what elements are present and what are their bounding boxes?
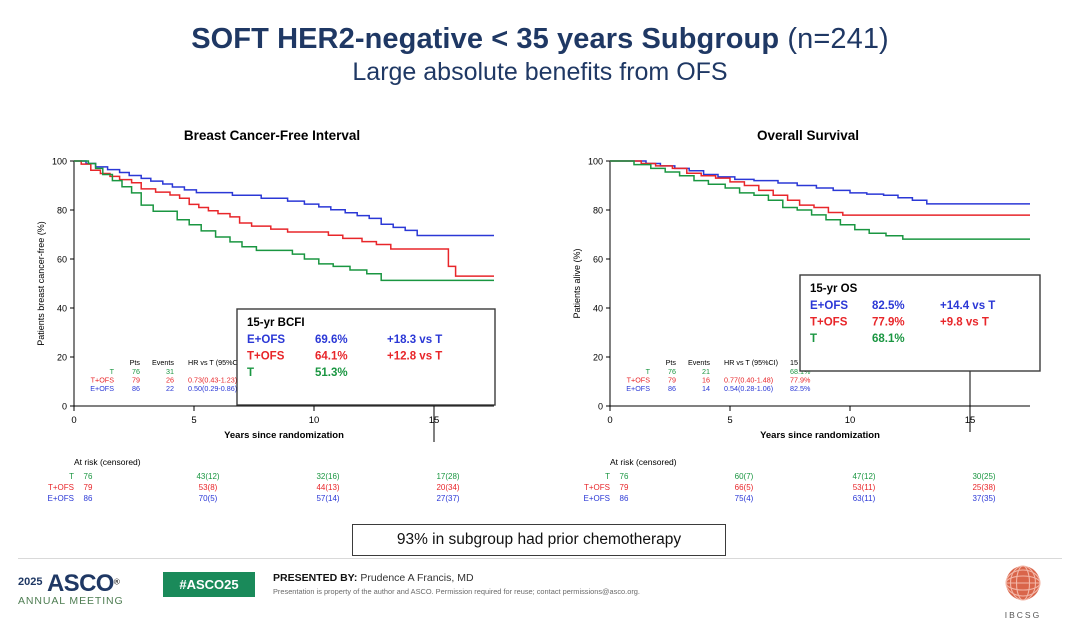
chart-title-bcfi: Breast Cancer-Free Interval [22,128,522,143]
y-axis-title: Patients breast cancer-free (%) [36,221,46,346]
y-tick-label: 0 [62,402,67,412]
summary-callout-bcfi: 15-yr BCFIE+OFS69.6%+18.3 vs TT+OFS64.1%… [237,309,495,405]
km-curve-t [74,161,494,280]
km-plot-os: 020406080100051015Years since randomizat… [558,147,1058,507]
plot-area-os: 020406080100051015Years since randomizat… [558,147,1058,507]
title-main: SOFT HER2-negative < 35 years Subgroup [191,23,779,55]
callout-delta: +18.3 vs T [387,334,442,346]
km-curve-t [610,161,1030,239]
at-risk-header: At risk (censored) [610,457,677,467]
y-axis-title: Patients alive (%) [572,248,582,318]
stats-cell: E+OFS [626,384,650,393]
at-risk-cell: 17(28) [436,472,459,481]
x-tick-label: 10 [309,415,320,426]
callout-value: 77.9% [872,317,905,329]
chart-panel-os: Overall Survival 020406080100051015Years… [558,128,1058,518]
stats-cell: 0.54(0.28-1.06) [724,384,773,393]
at-risk-row-label: T [69,472,74,481]
at-risk-cell: 86 [84,494,93,503]
y-tick-label: 100 [588,157,603,167]
callout-delta: +14.4 vs T [940,300,995,312]
at-risk-row-label: T+OFS [584,483,610,492]
copyright-disclaimer: Presentation is property of the author a… [273,587,640,596]
at-risk-cell: 47(12) [852,472,875,481]
callout-arm: T [247,367,254,379]
callout-arm: E+OFS [247,334,285,346]
page-title: SOFT HER2-negative < 35 years Subgroup (… [0,22,1080,87]
km-curve-e-ofs [74,161,494,235]
at-risk-cell: 86 [620,494,629,503]
at-risk-header: At risk (censored) [74,457,141,467]
at-risk-cell: 53(11) [853,483,876,492]
callout-value: 68.1% [872,333,905,345]
asco-subtitle: ANNUAL MEETING [18,595,150,607]
stats-header-cell: Pts [130,358,141,367]
y-tick-label: 20 [57,353,67,363]
asco-year: 2025 [18,576,42,588]
y-tick-label: 40 [57,304,67,314]
callout-heading: 15-yr OS [810,283,858,295]
title-paren: (n=241) [779,23,889,55]
callout-arm: T [810,333,817,345]
callout-value: 82.5% [872,300,905,312]
hashtag-text: #ASCO25 [179,577,238,592]
callout-delta: +12.8 vs T [387,351,442,363]
x-axis-title: Years since randomization [224,430,344,441]
asco-logo: 2025 ASCO® ANNUAL MEETING [18,570,150,607]
globe-icon [1002,562,1044,604]
y-tick-label: 0 [598,402,603,412]
at-risk-cell: 76 [620,472,629,481]
stats-cell: 86 [132,384,140,393]
ibcsg-label: IBCSG [990,610,1056,620]
stats-header-cell: HR vs T (95%CI) [188,358,242,367]
callout-arm: E+OFS [810,300,848,312]
callout-arm: T+OFS [810,317,848,329]
chemotherapy-callout-text: 93% in subgroup had prior chemotherapy [397,531,681,549]
stats-cell: 82.5% [790,384,811,393]
x-tick-label: 0 [607,415,612,426]
asco-trademark: ® [114,578,120,587]
slide-footer: 2025 ASCO® ANNUAL MEETING #ASCO25 PRESEN… [18,566,1062,608]
at-risk-cell: 25(38) [972,483,995,492]
stats-cell: E+OFS [90,384,114,393]
x-tick-label: 5 [191,415,196,426]
stats-cell: 86 [668,384,676,393]
asco-wordmark: ASCO [47,570,114,598]
at-risk-cell: 32(16) [316,472,339,481]
at-risk-row-label: T+OFS [48,483,74,492]
at-risk-row-label: E+OFS [48,494,74,503]
stats-header-cell: HR vs T (95%CI) [724,358,778,367]
x-tick-label: 10 [845,415,856,426]
x-tick-label: 5 [727,415,732,426]
at-risk-cell: 27(37) [436,494,459,503]
plot-area-bcfi: 020406080100051015Years since randomizat… [22,147,522,507]
at-risk-cell: 57(14) [316,494,339,503]
at-risk-cell: 60(7) [735,472,754,481]
km-curve-t-ofs [74,161,494,276]
chart-panel-bcfi: Breast Cancer-Free Interval 020406080100… [22,128,522,518]
y-tick-label: 80 [57,206,67,216]
callout-value: 51.3% [315,367,348,379]
stats-header-cell: Events [688,358,710,367]
callout-arm: T+OFS [247,351,285,363]
slide-root: SOFT HER2-negative < 35 years Subgroup (… [0,0,1080,608]
x-tick-label: 0 [71,415,76,426]
at-risk-cell: 37(35) [972,494,995,503]
title-line-1: SOFT HER2-negative < 35 years Subgroup (… [0,22,1080,56]
presenter-name: Prudence A Francis, MD [360,572,473,584]
callout-heading: 15-yr BCFI [247,317,305,329]
at-risk-cell: 75(4) [735,494,754,503]
callout-value: 69.6% [315,334,348,346]
at-risk-cell: 30(25) [972,472,995,481]
at-risk-row-label: E+OFS [584,494,610,503]
y-tick-label: 40 [593,304,603,314]
y-tick-label: 20 [593,353,603,363]
km-plot-bcfi: 020406080100051015Years since randomizat… [22,147,522,507]
footer-divider [18,558,1062,559]
presented-by-block: PRESENTED BY: Prudence A Francis, MD Pre… [273,572,640,596]
callout-delta: +9.8 vs T [940,317,989,329]
stats-header-cell: Events [152,358,174,367]
y-tick-label: 60 [57,255,67,265]
at-risk-cell: 79 [620,483,629,492]
callout-value: 64.1% [315,351,348,363]
y-tick-label: 60 [593,255,603,265]
at-risk-row-label: T [605,472,610,481]
at-risk-cell: 70(5) [199,494,218,503]
at-risk-cell: 79 [84,483,93,492]
at-risk-cell: 20(34) [436,483,459,492]
stats-cell: 22 [166,384,174,393]
y-tick-label: 100 [52,157,67,167]
hashtag-badge: #ASCO25 [163,572,255,597]
stats-cell: 14 [702,384,710,393]
at-risk-cell: 63(11) [853,494,876,503]
presented-by-label: PRESENTED BY: [273,572,357,584]
y-tick-label: 80 [593,206,603,216]
chemotherapy-callout: 93% in subgroup had prior chemotherapy [352,524,726,556]
at-risk-cell: 66(5) [735,483,754,492]
stats-header-cell: Pts [666,358,677,367]
at-risk-cell: 76 [84,472,93,481]
x-axis-title: Years since randomization [760,430,880,441]
at-risk-cell: 44(13) [316,483,339,492]
ibcsg-logo: IBCSG [990,562,1056,620]
title-line-2: Large absolute benefits from OFS [0,57,1080,87]
chart-title-os: Overall Survival [558,128,1058,143]
presented-by-line: PRESENTED BY: Prudence A Francis, MD [273,572,640,584]
stats-cell: 0.50(0.29-0.86) [188,384,237,393]
at-risk-cell: 53(8) [199,483,218,492]
at-risk-cell: 43(12) [196,472,219,481]
summary-callout-os: 15-yr OSE+OFS82.5%+14.4 vs TT+OFS77.9%+9… [800,275,1040,371]
